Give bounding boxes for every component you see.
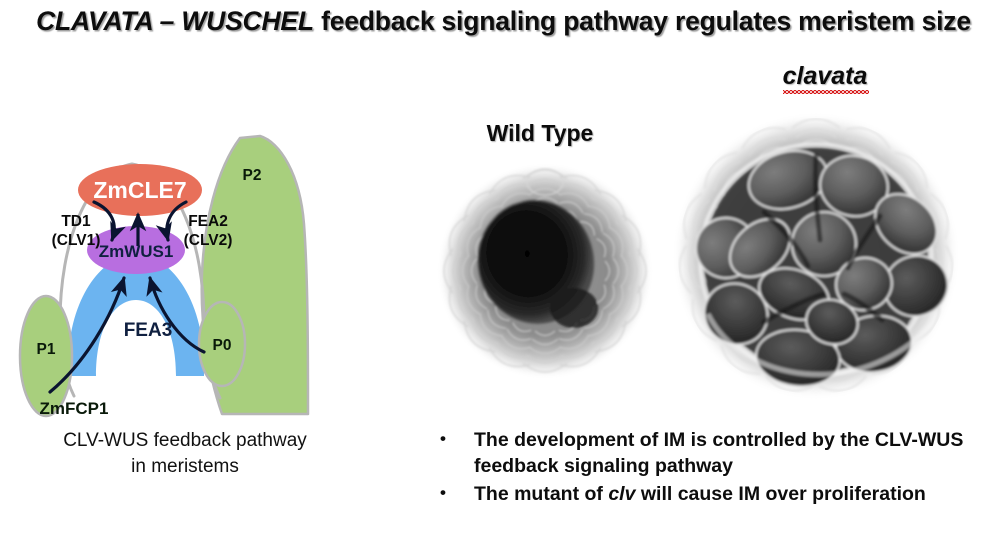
primordium-p1-label: P1 xyxy=(37,341,56,358)
title-gene-names: CLAVATA – WUSCHEL xyxy=(36,6,314,36)
title-rest: feedback signaling pathway regulates mer… xyxy=(314,6,971,36)
bullet-text-1: The development of IM is controlled by t… xyxy=(474,428,992,479)
bullet-marker: • xyxy=(432,482,474,504)
td1-label-line1: TD1 xyxy=(61,213,91,230)
bullet-2-gene: clv xyxy=(608,483,635,505)
sem-image-clavata xyxy=(668,108,964,404)
primordium-p0-label: P0 xyxy=(213,337,232,354)
slide-canvas: CLAVATA – WUSCHEL feedback signaling pat… xyxy=(0,0,1007,547)
bullet-text-2: The mutant of clv will cause IM over pro… xyxy=(474,482,992,508)
diagram-caption: CLV-WUS feedback pathway in meristems xyxy=(10,428,360,480)
fea2-label-line1: FEA2 xyxy=(188,213,228,230)
bullet-2-pre: The mutant of xyxy=(474,483,608,505)
fea3-label: FEA3 xyxy=(124,320,173,341)
clv-wus-pathway-diagram: ZmCLE7 ZmWUS1 FEA3 TD1 (CLV1) FEA2 (CLV2… xyxy=(8,128,338,418)
zmfcp1-label: ZmFCP1 xyxy=(40,399,109,418)
zmcle7-label: ZmCLE7 xyxy=(93,177,186,203)
primordium-p2-label: P2 xyxy=(243,167,262,184)
diagram-caption-line1: CLV-WUS feedback pathway xyxy=(10,428,360,454)
bullet-1-pre: The development of IM is controlled by t… xyxy=(474,429,963,477)
bullet-marker: • xyxy=(432,428,474,450)
bullet-item-2: • The mutant of clv will cause IM over p… xyxy=(432,482,992,508)
bullet-item-1: • The development of IM is controlled by… xyxy=(432,428,992,479)
bullet-2-post: will cause IM over proliferation xyxy=(635,483,925,505)
diagram-caption-line2: in meristems xyxy=(10,454,360,480)
sem-image-wild-type xyxy=(432,158,658,384)
slide-title: CLAVATA – WUSCHEL feedback signaling pat… xyxy=(0,6,1007,37)
bullet-list: • The development of IM is controlled by… xyxy=(432,428,992,511)
clavata-label-text: clavata xyxy=(783,62,868,91)
clavata-label: clavata xyxy=(720,62,930,91)
zmwus1-label: ZmWUS1 xyxy=(99,242,174,261)
wild-type-label: Wild Type xyxy=(440,120,640,147)
td1-label-line2: (CLV1) xyxy=(52,232,101,249)
fea2-label-line2: (CLV2) xyxy=(184,232,233,249)
